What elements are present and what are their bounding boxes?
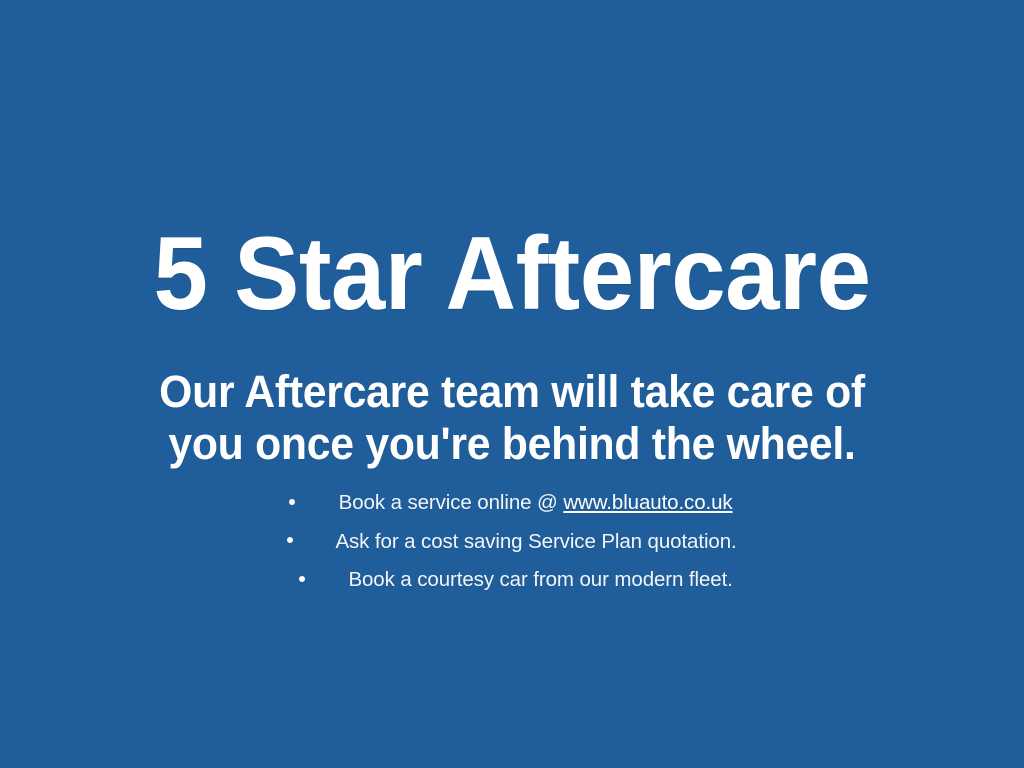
list-item: Book a service online @ www.bluauto.co.u… [0,484,1024,523]
bullet-text-1: Ask for a cost saving Service Plan quota… [335,530,736,553]
bullet-text-2: Book a courtesy car from our modern flee… [348,568,732,591]
list-item: Ask for a cost saving Service Plan quota… [0,523,1024,562]
bullet-dot-icon [289,499,295,505]
list-item: Book a courtesy car from our modern flee… [0,561,1024,600]
aftercare-bullet-list: Book a service online @ www.bluauto.co.u… [0,484,1024,600]
bullet-dot-icon [299,576,305,582]
subtitle-line-2: you once you're behind the wheel. [26,418,999,470]
bullet-dot-icon [287,537,293,543]
bluauto-website-link[interactable]: www.bluauto.co.uk [563,491,732,514]
presentation-slide: 5 Star Aftercare Our Aftercare team will… [0,0,1024,768]
page-title: 5 Star Aftercare [31,218,994,330]
slide-subtitle: Our Aftercare team will take care of you… [26,366,999,470]
subtitle-line-1: Our Aftercare team will take care of [26,366,999,418]
bullet-text-0: Book a service online @ [339,491,564,514]
